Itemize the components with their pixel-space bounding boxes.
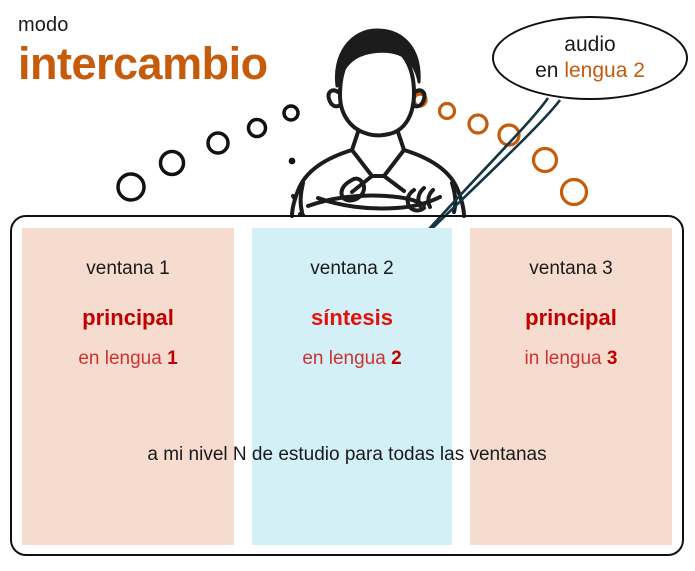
footer-note: a mi nivel N de estudio para todas las v… bbox=[10, 444, 684, 466]
thought-bubbles-black bbox=[118, 106, 298, 200]
window-1-title: ventana 1 bbox=[22, 258, 234, 281]
window-column-1[interactable]: ventana 1 principal en lengua 1 bbox=[22, 228, 234, 545]
audio-speech-bubble: audio en lengua 2 bbox=[492, 16, 688, 100]
window-2-title: ventana 2 bbox=[252, 258, 452, 281]
window-2-language-number: 2 bbox=[391, 348, 402, 369]
title-block: modo intercambio bbox=[18, 14, 348, 87]
window-1-language: en lengua 1 bbox=[22, 348, 234, 371]
window-1-language-prefix: en lengua bbox=[78, 348, 167, 369]
speech-bubble-prefix: en bbox=[535, 59, 564, 82]
speech-pointer-tail bbox=[412, 98, 560, 230]
page-title: intercambio bbox=[18, 40, 348, 87]
speech-bubble-line-1: audio bbox=[564, 32, 615, 58]
window-column-3[interactable]: ventana 3 principal in lengua 3 bbox=[470, 228, 672, 545]
mode-label: modo bbox=[18, 14, 348, 36]
window-3-language-number: 3 bbox=[607, 348, 618, 369]
diagram-canvas: modo intercambio bbox=[0, 0, 695, 571]
window-3-language: in lengua 3 bbox=[470, 348, 672, 371]
window-column-2[interactable]: ventana 2 síntesis en lengua 2 bbox=[252, 228, 452, 545]
window-3-role: principal bbox=[470, 305, 672, 331]
window-1-role: principal bbox=[22, 305, 234, 331]
window-3-language-prefix: in lengua bbox=[525, 348, 607, 369]
window-1-language-number: 1 bbox=[167, 348, 178, 369]
window-2-role: síntesis bbox=[252, 305, 452, 331]
window-2-language: en lengua 2 bbox=[252, 348, 452, 371]
window-3-title: ventana 3 bbox=[470, 258, 672, 281]
speech-bubble-line-2: en lengua 2 bbox=[535, 58, 645, 84]
thought-bubbles-orange bbox=[414, 94, 587, 205]
window-2-language-prefix: en lengua bbox=[302, 348, 391, 369]
speech-bubble-accent: lengua 2 bbox=[564, 59, 645, 82]
